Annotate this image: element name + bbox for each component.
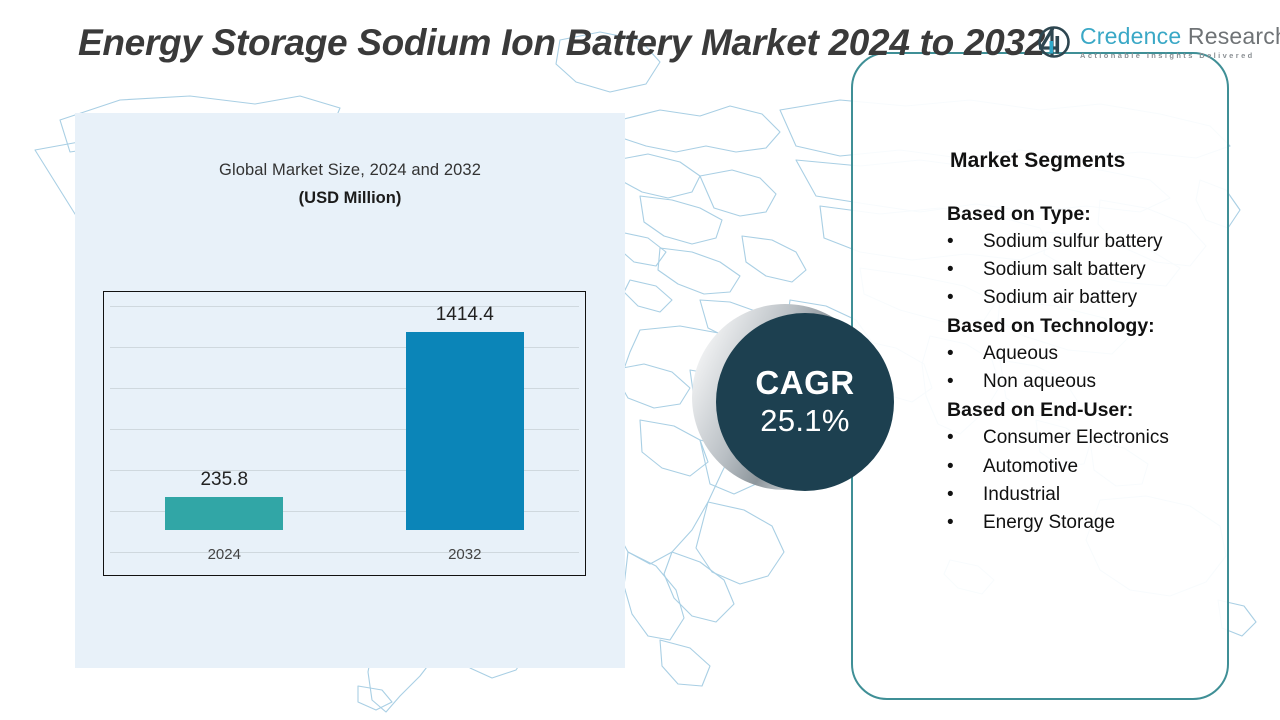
segment-item-label: Energy Storage [983,512,1115,533]
segment-list-item: •Automotive [947,453,1213,481]
segment-list-item: •Sodium air battery [947,284,1213,312]
segment-list-item: •Aqueous [947,340,1213,368]
segment-list: •Sodium sulfur battery•Sodium salt batte… [947,228,1213,312]
cagr-value: 25.1% [760,403,849,439]
chart-subtitle: (USD Million) [75,189,625,208]
logo-text-block: Credence Research Actionable Insights De… [1080,25,1280,60]
bullet-icon: • [947,228,954,256]
bullet-icon: • [947,256,954,284]
cagr-badge: CAGR 25.1% [692,304,902,502]
segment-item-label: Sodium salt battery [983,259,1146,280]
market-segments-panel: Market Segments Based on Type:•Sodium su… [851,52,1229,700]
segment-item-label: Non aqueous [983,371,1096,392]
segment-item-label: Sodium air battery [983,287,1137,308]
chart-panel: Global Market Size, 2024 and 2032 (USD M… [75,113,625,668]
cagr-label: CAGR [755,366,854,401]
cagr-circle: CAGR 25.1% [716,313,894,491]
segment-list-item: •Sodium sulfur battery [947,228,1213,256]
segment-list: •Consumer Electronics•Automotive•Industr… [947,424,1213,536]
bullet-icon: • [947,368,954,396]
segment-group-heading: Based on End-User: [947,398,1213,423]
segment-item-label: Consumer Electronics [983,427,1169,448]
bullet-icon: • [947,424,954,452]
segment-list-item: •Energy Storage [947,509,1213,537]
bullet-icon: • [947,509,954,537]
infographic-page: Energy Storage Sodium Ion Battery Market… [0,0,1280,720]
segment-list-item: •Industrial [947,481,1213,509]
bullet-icon: • [947,453,954,481]
category-label-2024: 2024 [208,546,241,563]
logo-name-research: Research [1181,23,1280,49]
chart-title: Global Market Size, 2024 and 2032 [75,161,625,180]
bar-chart-plot-area: 235.81414.4 20242032 [103,291,586,576]
logo-name-credence: Credence [1080,23,1181,49]
segment-list-item: •Consumer Electronics [947,424,1213,452]
segment-list: •Aqueous•Non aqueous [947,340,1213,396]
segment-list-item: •Sodium salt battery [947,256,1213,284]
credence-circle-logo-icon [1032,21,1074,63]
segment-group-heading: Based on Type: [947,202,1213,227]
segment-item-label: Aqueous [983,343,1058,364]
bullet-icon: • [947,284,954,312]
segment-list-item: •Non aqueous [947,368,1213,396]
logo-tagline: Actionable Insights Delivered [1080,51,1280,60]
page-title: Energy Storage Sodium Ion Battery Market… [78,20,1078,66]
bullet-icon: • [947,340,954,368]
category-slot: 2024 [104,292,345,575]
segment-group-heading: Based on Technology: [947,314,1213,339]
brand-logo: Credence Research Actionable Insights De… [1032,21,1280,63]
bullet-icon: • [947,481,954,509]
segment-item-label: Automotive [983,456,1078,477]
segments-title: Market Segments [950,149,1125,173]
category-slot: 2032 [345,292,586,575]
segment-item-label: Industrial [983,484,1060,505]
category-label-2032: 2032 [448,546,481,563]
logo-name: Credence Research [1080,25,1280,48]
segment-item-label: Sodium sulfur battery [983,231,1163,252]
segments-body: Based on Type:•Sodium sulfur battery•Sod… [947,202,1213,539]
